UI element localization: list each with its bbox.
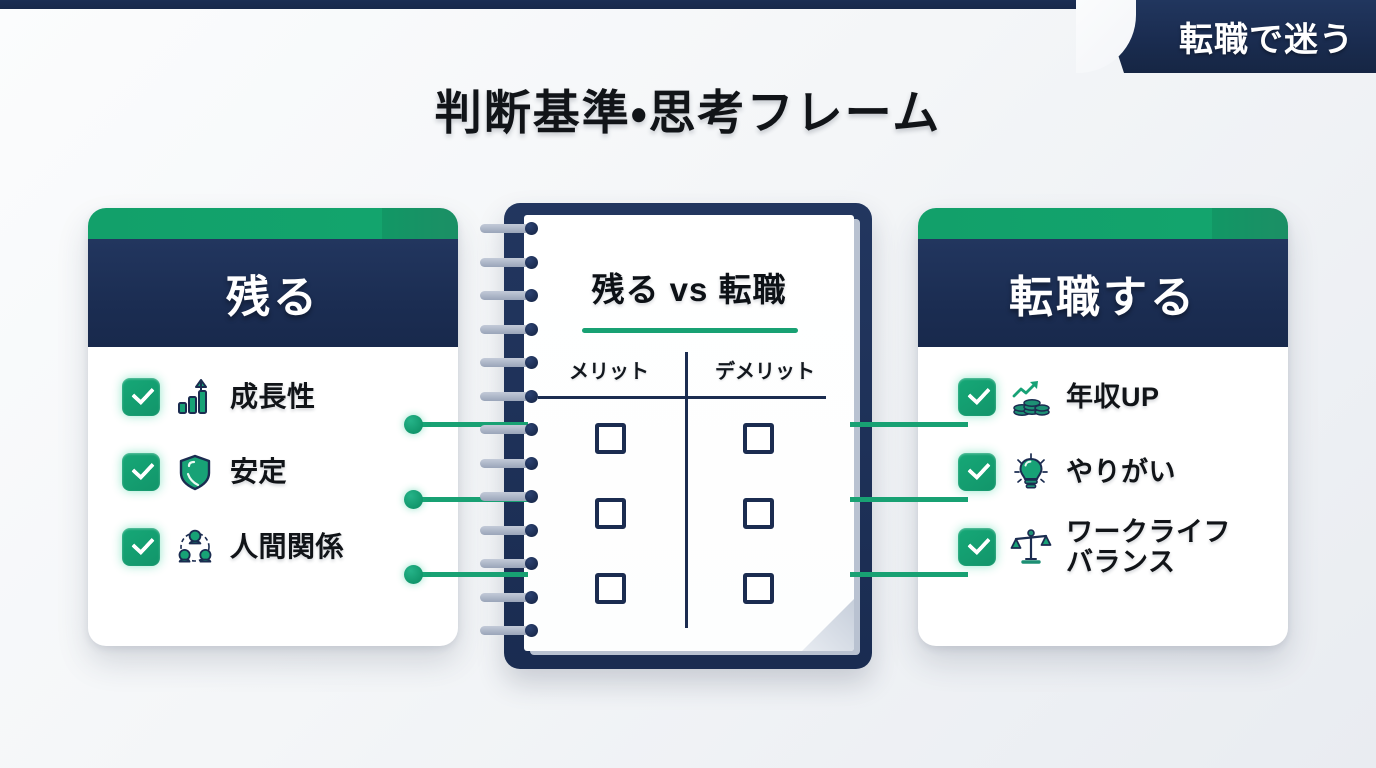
spiral-ring	[480, 423, 538, 436]
merit-checkbox[interactable]	[595, 498, 626, 529]
list-item: 年収UP	[958, 369, 1272, 425]
spiral-ring-bar	[480, 325, 530, 334]
checkbox-checked-icon[interactable]	[958, 453, 996, 491]
spiral-ring-bar	[480, 526, 530, 535]
checkbox-checked-icon[interactable]	[958, 528, 996, 566]
spiral-ring	[480, 591, 538, 604]
infographic-canvas: 転職で迷う 判断基準・思考フレーム 残る 成長性	[0, 0, 1376, 768]
spiral-ring	[480, 490, 538, 503]
card-header: 残る	[88, 239, 458, 347]
checkbox-checked-icon[interactable]	[122, 378, 160, 416]
list-item: ワークライフ バランス	[958, 519, 1272, 575]
spiral-ring-end	[525, 390, 538, 403]
spiral-ring-end	[525, 490, 538, 503]
connector-dot	[404, 415, 423, 434]
spiral-ring-bar	[480, 593, 530, 602]
spiral-ring-bar	[480, 224, 530, 233]
spiral-ring-end	[525, 256, 538, 269]
bar-chart-growth-icon	[174, 376, 216, 418]
spiral-ring	[480, 222, 538, 235]
column-header-demerit: デメリット	[692, 355, 838, 387]
demerit-checkbox[interactable]	[743, 423, 774, 454]
spiral-ring	[480, 457, 538, 470]
spiral-ring-end	[525, 624, 538, 637]
notepad-title: 残る vs 転職	[524, 263, 854, 311]
list-item: 安定	[122, 444, 442, 500]
spiral-ring	[480, 289, 538, 302]
spiral-ring-end	[525, 323, 538, 336]
notepad-page: 残る vs 転職 メリット デメリット	[524, 215, 854, 651]
spiral-ring	[480, 624, 538, 637]
spiral-ring-end	[525, 457, 538, 470]
connector-line	[850, 422, 968, 427]
notepad-title-underline	[582, 328, 798, 333]
spiral-ring-end	[525, 356, 538, 369]
merit-checkbox[interactable]	[595, 573, 626, 604]
shield-icon	[174, 451, 216, 493]
list-item-label: 人間関係	[230, 531, 344, 562]
balance-scale-icon	[1010, 526, 1052, 568]
list-item-label: 成長性	[230, 381, 316, 412]
spiral-ring-bar	[480, 258, 530, 267]
page-title: 判断基準・思考フレーム	[0, 74, 1376, 143]
spiral-ring-bar	[480, 626, 530, 635]
spiral-ring	[480, 390, 538, 403]
spiral-ring-end	[525, 423, 538, 436]
spiral-ring-bar	[480, 291, 530, 300]
demerit-checkbox[interactable]	[743, 498, 774, 529]
list-item: 成長性	[122, 369, 442, 425]
spiral-ring-bar	[480, 392, 530, 401]
demerit-checkbox[interactable]	[743, 573, 774, 604]
switch-option-card: 転職する	[918, 208, 1288, 646]
page-fold-corner-icon	[802, 599, 854, 651]
list-item: やりがい	[958, 444, 1272, 500]
table-header-divider	[538, 396, 826, 399]
list-item-label: 安定	[230, 456, 287, 487]
spiral-ring	[480, 524, 538, 537]
stay-option-card: 残る 成長性	[88, 208, 458, 646]
card-body: 成長性 安定	[88, 347, 458, 646]
spiral-ring-end	[525, 222, 538, 235]
spiral-ring	[480, 557, 538, 570]
notepad-spiral-binding	[480, 222, 542, 652]
spiral-ring-bar	[480, 459, 530, 468]
spiral-ring-bar	[480, 358, 530, 367]
spiral-ring-bar	[480, 492, 530, 501]
connector-line	[850, 572, 968, 577]
spiral-ring-end	[525, 289, 538, 302]
spiral-ring-bar	[480, 559, 530, 568]
card-header: 転職する	[918, 239, 1288, 347]
coins-growth-icon	[1010, 376, 1052, 418]
list-item-label: ワークライフ バランス	[1066, 517, 1231, 577]
merit-checkbox[interactable]	[595, 423, 626, 454]
checkbox-checked-icon[interactable]	[958, 378, 996, 416]
spiral-ring	[480, 323, 538, 336]
card-body: 年収UP	[918, 347, 1288, 646]
spiral-ring-bar	[480, 425, 530, 434]
card-header-label: 残る	[226, 261, 320, 325]
connector-dot	[404, 565, 423, 584]
connector-dot	[404, 490, 423, 509]
checkbox-checked-icon[interactable]	[122, 528, 160, 566]
column-header-merit: メリット	[546, 355, 672, 387]
card-accent-bar	[88, 208, 458, 239]
list-item: 人間関係	[122, 519, 442, 575]
connector-line	[850, 497, 968, 502]
badge-label: 転職で迷う	[1134, 0, 1354, 73]
spiral-ring-end	[525, 557, 538, 570]
spiral-ring-end	[525, 524, 538, 537]
list-item-label: 年収UP	[1066, 382, 1160, 412]
table-column-divider	[685, 352, 688, 628]
list-item-label: やりがい	[1066, 457, 1176, 487]
people-network-icon	[174, 526, 216, 568]
spiral-ring-end	[525, 591, 538, 604]
card-header-label: 転職する	[1009, 261, 1197, 325]
checkbox-checked-icon[interactable]	[122, 453, 160, 491]
lightbulb-icon	[1010, 451, 1052, 493]
comparison-notepad: 残る vs 転職 メリット デメリット	[504, 203, 872, 669]
card-accent-bar	[918, 208, 1288, 239]
spiral-ring	[480, 356, 538, 369]
spiral-ring	[480, 256, 538, 269]
category-badge: 転職で迷う	[1076, 0, 1376, 73]
